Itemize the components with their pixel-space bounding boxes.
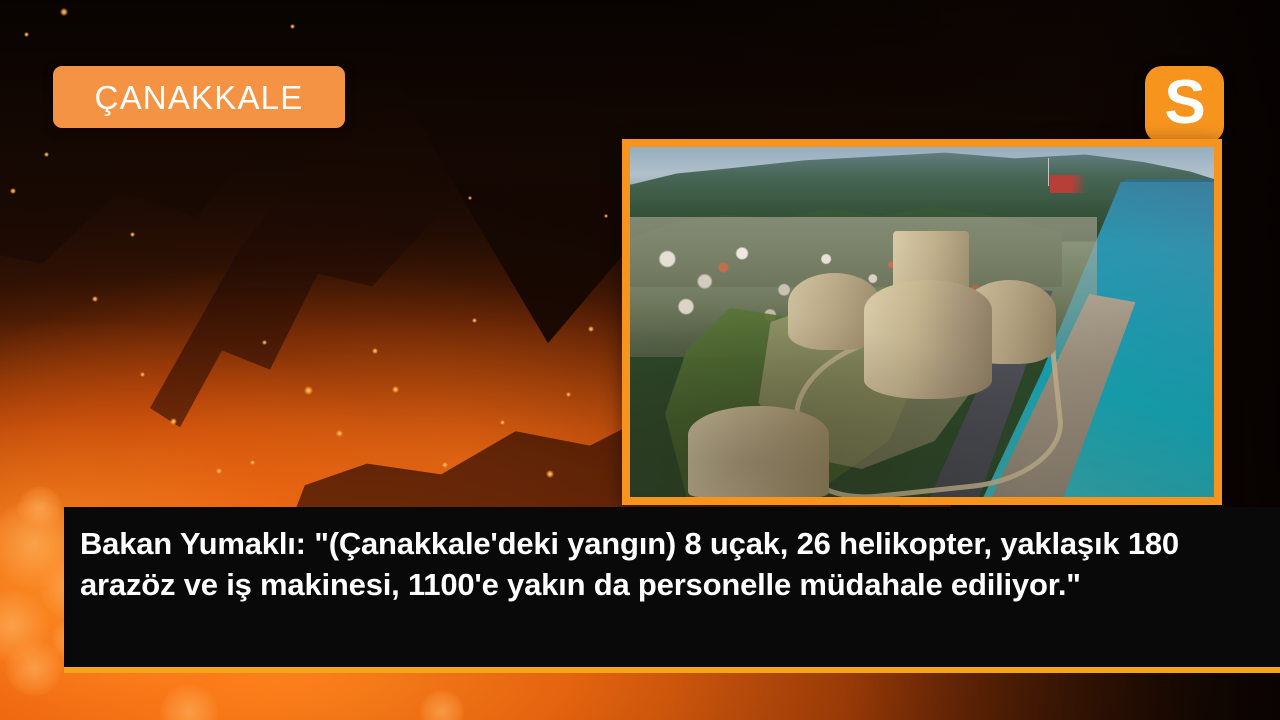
photo-frame (622, 139, 1222, 505)
news-photo (630, 147, 1214, 497)
city-badge-label: ÇANAKKALE (95, 81, 304, 114)
caption-text: Bakan Yumaklı: "(Çanakkale'deki yangın) … (64, 507, 1250, 605)
s-logo-icon[interactable]: S (1145, 66, 1224, 143)
photo-shading (630, 147, 1214, 497)
city-badge: ÇANAKKALE (53, 66, 345, 128)
logo-letter: S (1164, 72, 1204, 134)
news-card: ÇANAKKALE S Bakan Y (0, 0, 1280, 720)
caption-band: Bakan Yumaklı: "(Çanakkale'deki yangın) … (64, 507, 1280, 673)
